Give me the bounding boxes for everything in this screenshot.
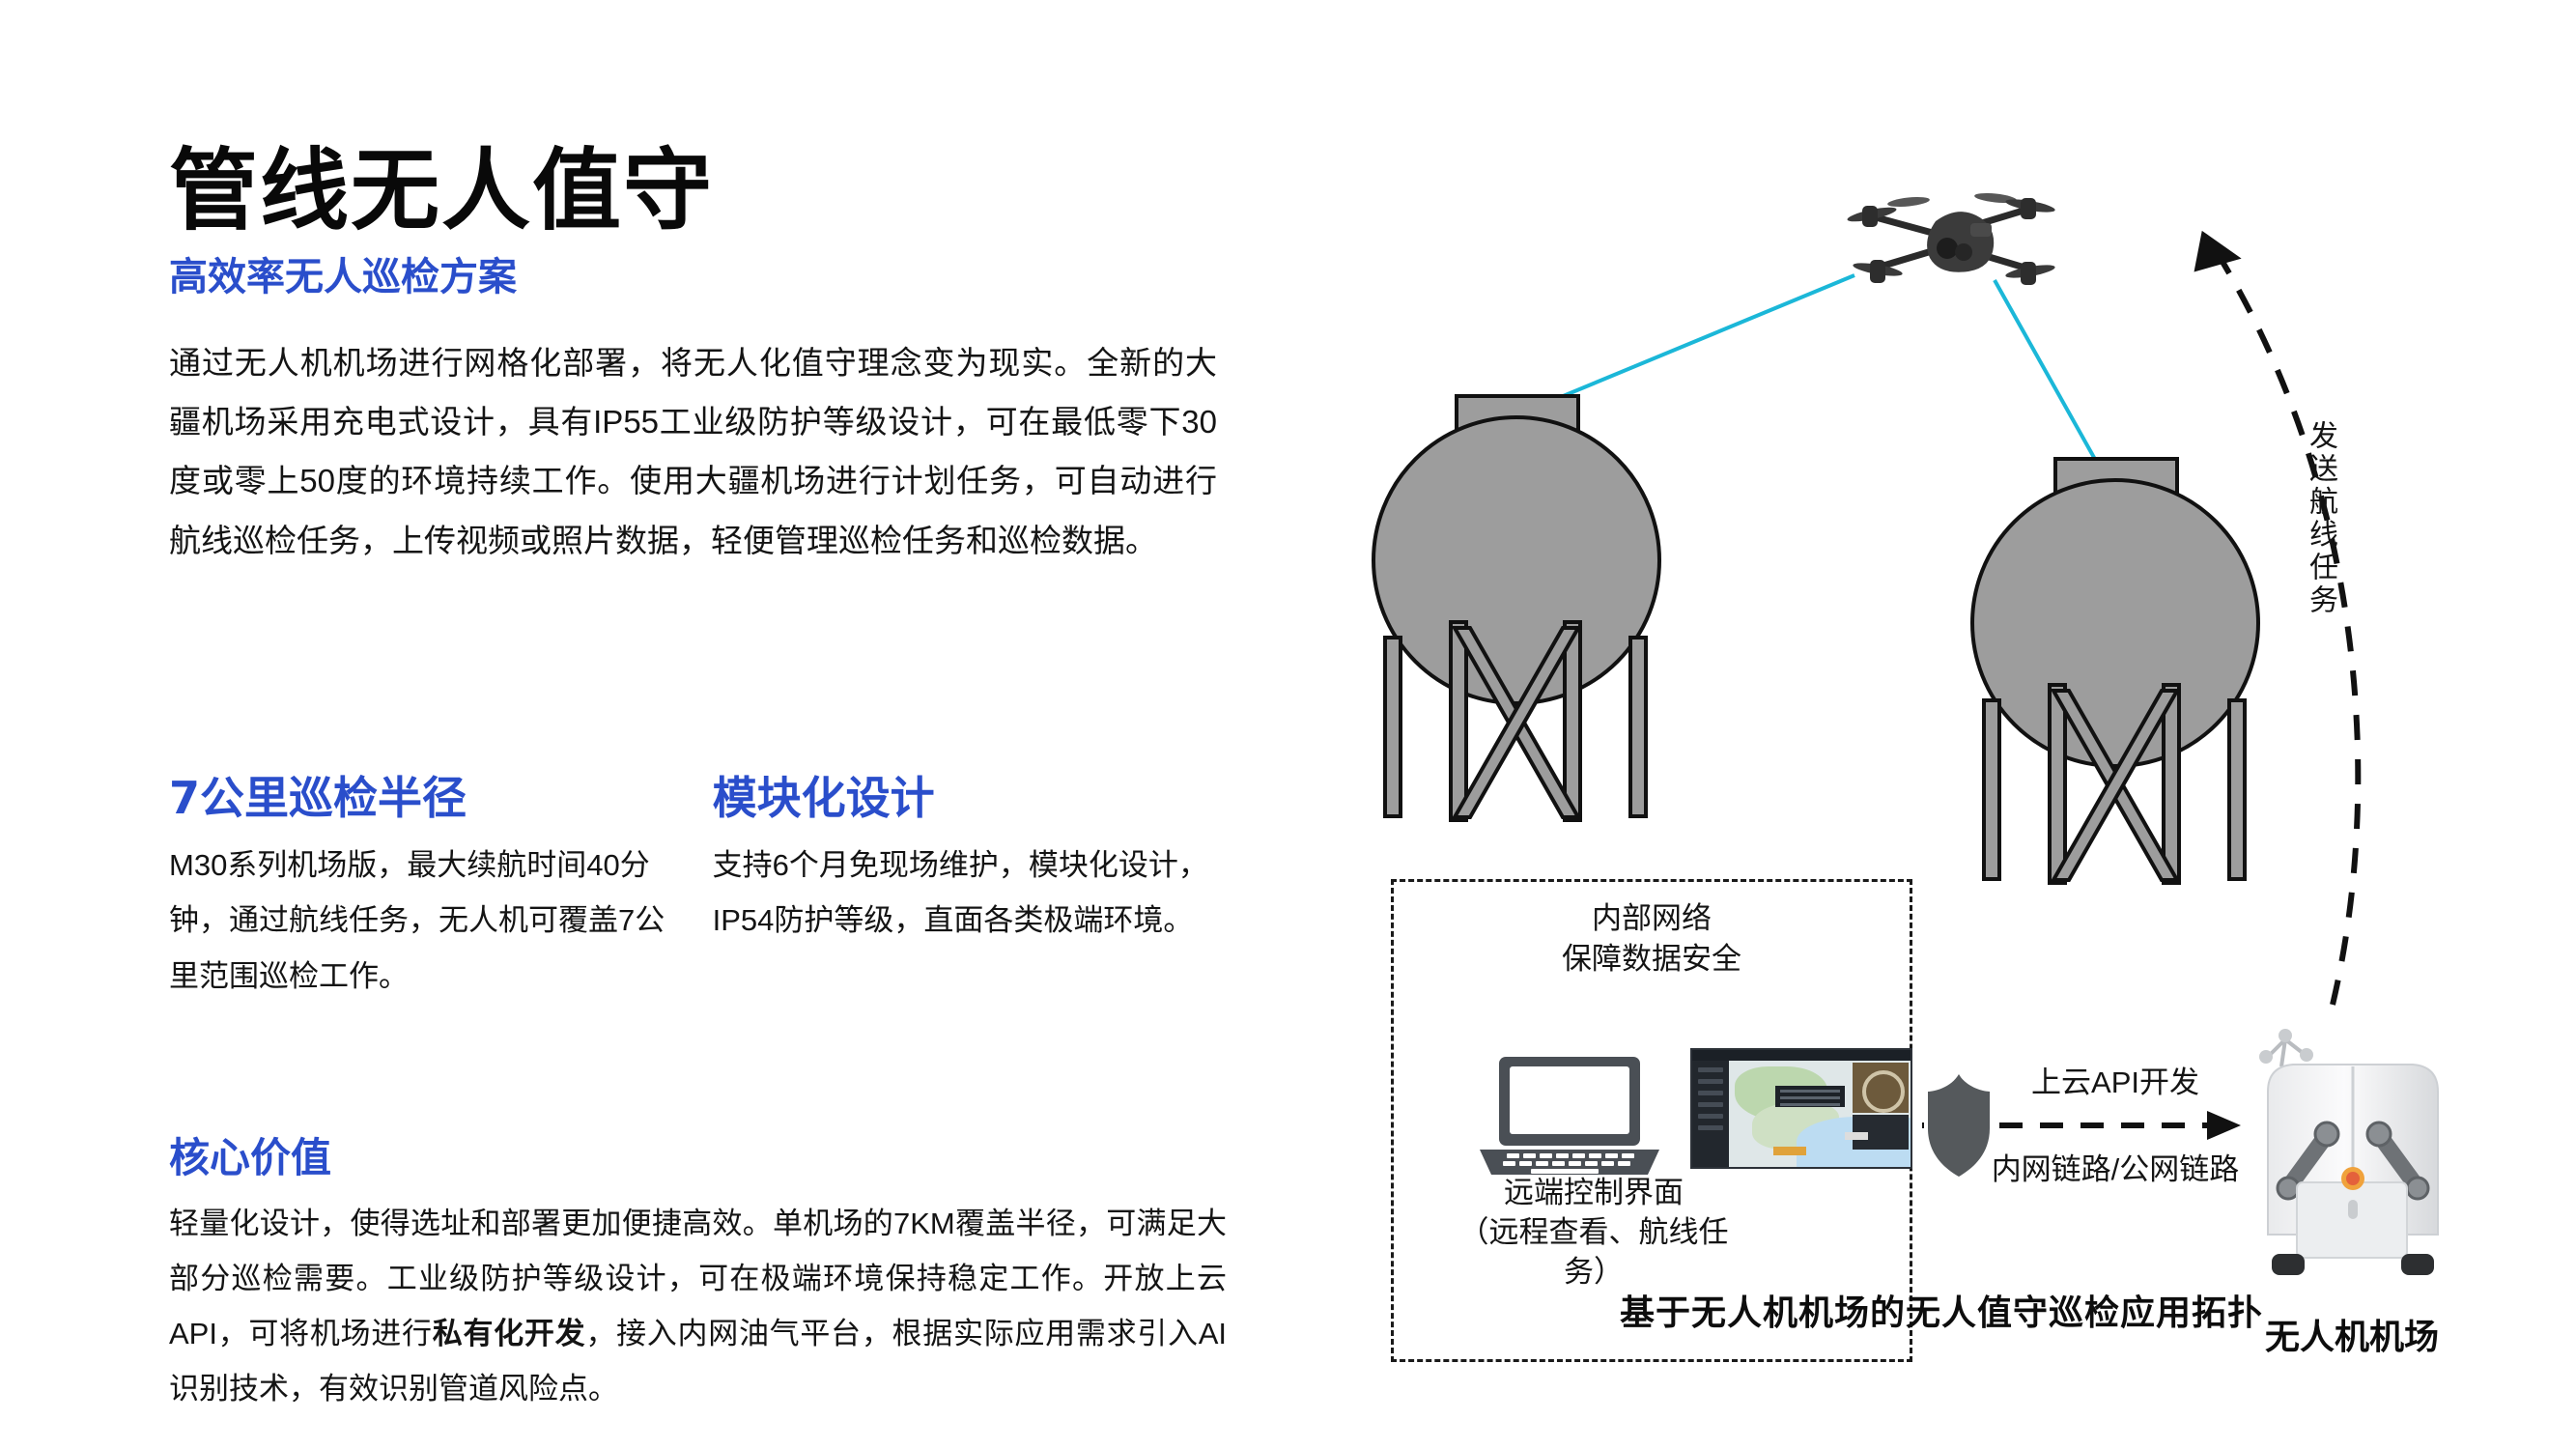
- drone-icon: [1816, 159, 2086, 304]
- inner-network-label: 内部网络 保障数据安全: [1391, 898, 1912, 980]
- feature-heading-radius: 7公里巡检半径: [169, 773, 669, 824]
- map-marker-tag-2: [1845, 1132, 1868, 1140]
- monitor-map-icon: [1690, 1048, 1912, 1169]
- storage-tank-right: [1970, 449, 2260, 903]
- slide-root: 管线无人值守 高效率无人巡检方案 通过无人机机场进行网格化部署，将无人化值守理念…: [0, 0, 2576, 1449]
- core-value-heading: 核心价值: [169, 1125, 1251, 1184]
- feature-body-modular: 支持6个月免现场维护，模块化设计，IP54防护等级，直面各类极端环境。: [713, 838, 1251, 949]
- map-info-panel: [1775, 1086, 1845, 1107]
- map-marker-tag: [1773, 1147, 1806, 1155]
- api-label: 上云API开发: [1970, 1058, 2260, 1101]
- left-content-column: 管线无人值守 高效率无人巡检方案 通过无人机机场进行网格化部署，将无人化值守理念…: [169, 145, 1251, 570]
- core-value-emphasis: 私有化开发: [433, 1317, 586, 1350]
- topology-diagram: 发送航线任务 内部网络 保障数据安全: [1333, 106, 2560, 1449]
- map-camera-thumb: [1853, 1063, 1909, 1113]
- drone-dock-icon: [2231, 1024, 2473, 1314]
- feature-body-radius: M30系列机场版，最大续航时间40分钟，通过航线任务，无人机可覆盖7公里范围巡检…: [169, 838, 669, 1004]
- monitor-sidebar: [1692, 1061, 1729, 1167]
- remote-caption-line-2: （远程查看、航线任: [1410, 1213, 1777, 1253]
- feature-columns: 7公里巡检半径 M30系列机场版，最大续航时间40分钟，通过航线任务，无人机可覆…: [169, 773, 1251, 1004]
- feature-column-modular: 模块化设计 支持6个月免现场维护，模块化设计，IP54防护等级，直面各类极端环境…: [713, 773, 1251, 1004]
- core-value-body: 轻量化设计，使得选址和部署更加便捷高效。单机场的7KM覆盖半径，可满足大部分巡检…: [169, 1196, 1227, 1416]
- feature-heading-modular: 模块化设计: [713, 773, 1251, 824]
- remote-console-caption: 远端控制界面 （远程查看、航线任 务）: [1410, 1174, 1777, 1293]
- intro-paragraph: 通过无人机机场进行网格化部署，将无人化值守理念变为现实。全新的大疆机场采用充电式…: [169, 333, 1217, 571]
- remote-caption-line-1: 远端控制界面: [1410, 1174, 1777, 1213]
- feature-column-radius: 7公里巡检半径 M30系列机场版，最大续航时间40分钟，通过航线任务，无人机可覆…: [169, 773, 669, 1004]
- inner-network-line-2: 保障数据安全: [1391, 939, 1912, 980]
- monitor-topbar: [1692, 1050, 1911, 1061]
- laptop-icon: [1478, 1053, 1661, 1179]
- inner-network-line-1: 内部网络: [1391, 898, 1912, 939]
- route-arrowhead: [2183, 222, 2242, 274]
- diagram-caption: 基于无人机机场的无人值守巡检应用拓扑: [1603, 1285, 2279, 1335]
- route-label-vertical: 发送航线任务: [2299, 420, 2341, 617]
- storage-tank-left: [1372, 386, 1661, 840]
- tank-legs: [1372, 628, 1661, 831]
- tank-legs: [1970, 691, 2260, 894]
- page-subtitle: 高效率无人巡检方案: [169, 254, 1251, 300]
- core-value-section: 核心价值 轻量化设计，使得选址和部署更加便捷高效。单机场的7KM覆盖半径，可满足…: [169, 1125, 1251, 1416]
- page-title: 管线无人值守: [169, 145, 1251, 239]
- monitor-map-area: [1729, 1061, 1911, 1167]
